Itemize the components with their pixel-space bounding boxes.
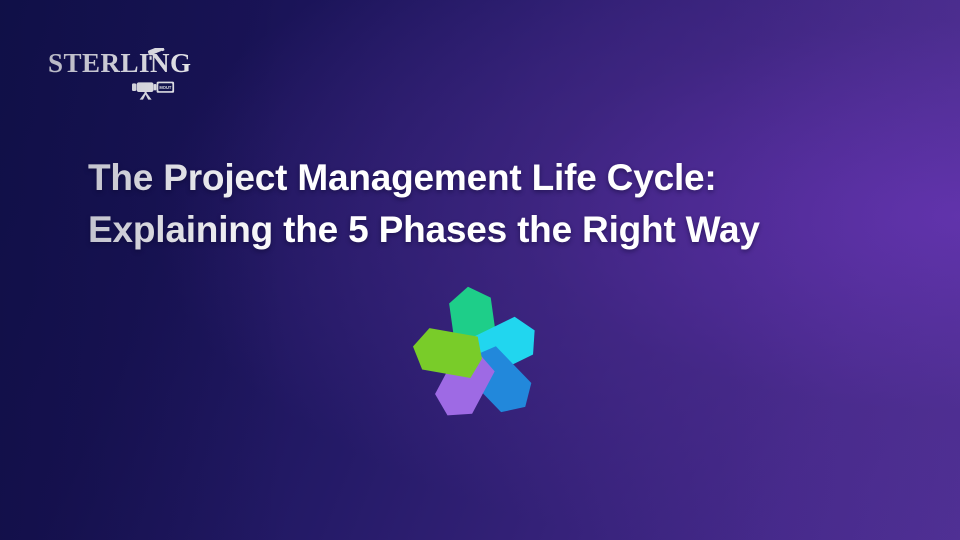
logo-badge-text: MOUT <box>159 85 172 90</box>
sterling-logo[interactable]: STERLING <box>48 48 248 100</box>
five-petal-pinwheel-graphic <box>392 276 568 442</box>
title-line-2: Explaining the 5 Phases the Right Way <box>88 204 878 256</box>
title-line-1: The Project Management Life Cycle: <box>88 152 878 204</box>
telescope-banner-icon: MOUT <box>132 82 174 100</box>
logo-mark-graphic: MOUT <box>48 48 248 100</box>
telescope-icon <box>147 48 164 60</box>
slide-title: The Project Management Life Cycle: Expla… <box>88 152 878 256</box>
slide-canvas: STERLING <box>0 0 960 540</box>
